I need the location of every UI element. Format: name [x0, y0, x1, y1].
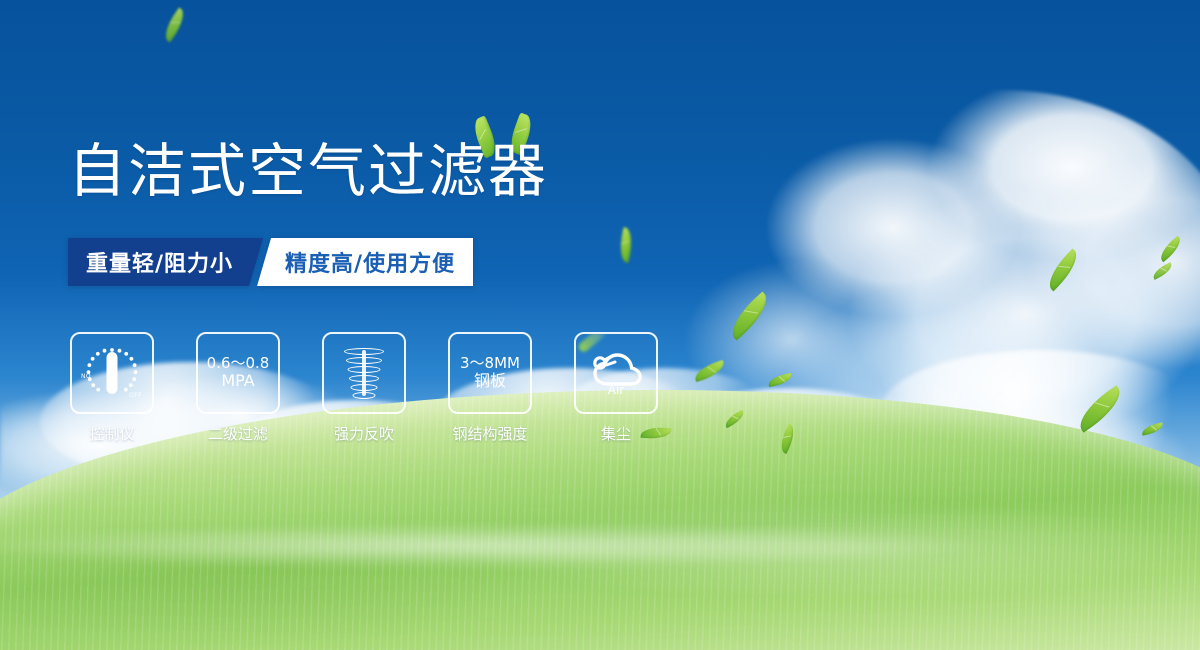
- feature-icon-box: Air: [574, 332, 658, 414]
- feature-box-line2: 钢板: [474, 372, 506, 390]
- feature-caption: 强力反吹: [334, 423, 394, 444]
- feature-caption: 钢结构强度: [452, 423, 527, 444]
- feature-item-strong-backflush[interactable]: 强力反吹: [320, 332, 408, 444]
- feature-icon-box: [322, 332, 406, 414]
- coil-ring: [349, 375, 379, 382]
- gauge-dial-icon: NO OFF: [81, 344, 143, 402]
- coil-ring: [351, 384, 378, 391]
- product-hero-banner: 自洁式空气过滤器 重量轻/阻力小 精度高/使用方便: [0, 0, 1200, 650]
- grass-ridge-highlight: [0, 520, 1200, 572]
- coil-ring: [348, 366, 381, 373]
- coil-stack-icon: [341, 346, 387, 400]
- feature-item-steel-strength[interactable]: 3～8MM 钢板 钢结构强度: [446, 332, 534, 444]
- feature-box-line1: 0.6～0.8: [207, 355, 270, 372]
- feature-caption: 控制仪: [89, 423, 134, 444]
- feature-box-line1: 3～8MM: [460, 355, 520, 372]
- gauge-label-off: OFF: [129, 393, 142, 400]
- coil-ring: [346, 357, 382, 364]
- page-title: 自洁式空气过滤器: [68, 142, 548, 200]
- leaf-icon: [617, 227, 636, 263]
- subtitle-left-segment: 重量轻/阻力小: [68, 238, 263, 286]
- feature-list: NO OFF 控制仪 0.6～0.8 MPA 二级过滤: [68, 332, 660, 444]
- coil-ring: [353, 392, 376, 399]
- coil-ring: [344, 348, 384, 355]
- feature-icon-box: 3～8MM 钢板: [448, 332, 532, 414]
- leaf-icon: [159, 7, 190, 42]
- air-label: Air: [586, 384, 646, 398]
- gauge-label-no: NO: [81, 374, 91, 381]
- cloud-air-icon: Air: [586, 350, 646, 396]
- feature-caption: 二级过滤: [208, 423, 268, 444]
- feature-caption: 集尘: [601, 423, 631, 444]
- feature-item-two-stage-filter[interactable]: 0.6～0.8 MPA 二级过滤: [194, 332, 282, 444]
- gauge-needle-icon: [107, 352, 118, 394]
- subtitle-banner: 重量轻/阻力小 精度高/使用方便: [68, 238, 473, 286]
- feature-box-line2: MPA: [221, 372, 254, 390]
- feature-item-dust-collection[interactable]: Air 集尘: [572, 332, 660, 444]
- subtitle-right-segment: 精度高/使用方便: [257, 238, 473, 286]
- feature-icon-box: 0.6～0.8 MPA: [196, 332, 280, 414]
- feature-item-controller[interactable]: NO OFF 控制仪: [68, 332, 156, 444]
- feature-icon-box: NO OFF: [70, 332, 154, 414]
